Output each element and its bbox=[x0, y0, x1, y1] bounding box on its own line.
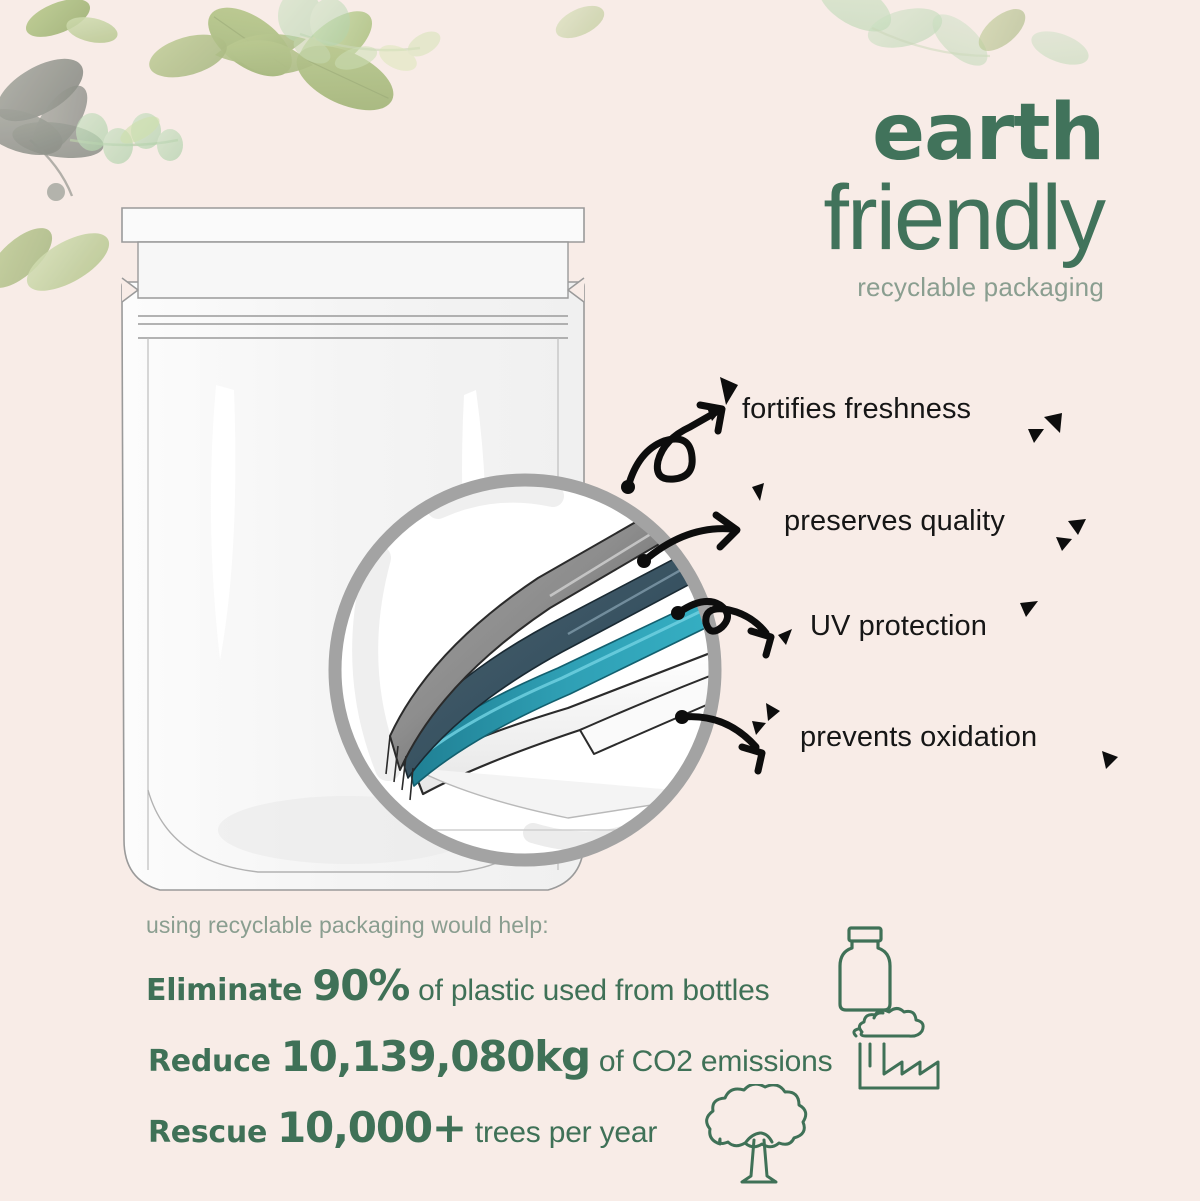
page-title: earth friendly recyclable packaging bbox=[584, 96, 1104, 303]
title-line-earth: earth bbox=[584, 96, 1104, 170]
stat-row-reduce: Reduce 10,139,080kg of CO2 emissions bbox=[148, 1032, 1146, 1081]
feature-item-preserves-quality: preserves quality bbox=[784, 505, 1005, 538]
arrow-anchor-dots bbox=[621, 480, 689, 724]
stat-tail: trees per year bbox=[475, 1116, 657, 1150]
small-loop-arrow-icon bbox=[678, 601, 771, 655]
stat-verb: Rescue bbox=[148, 1115, 267, 1150]
feature-item-uv-protection: UV protection bbox=[810, 610, 987, 643]
curly-loop-arrow-icon bbox=[628, 405, 722, 487]
stat-row-eliminate: Eliminate 90% of plastic used from bottl… bbox=[146, 961, 1146, 1010]
stat-value: 10,000+ bbox=[277, 1103, 466, 1152]
stat-verb: Reduce bbox=[148, 1044, 271, 1079]
title-line-friendly: friendly bbox=[584, 174, 1104, 262]
stat-tail: of plastic used from bottles bbox=[418, 974, 769, 1008]
stat-row-rescue: Rescue 10,000+ trees per year bbox=[148, 1103, 1146, 1152]
feature-item-fortifies-freshness: fortifies freshness bbox=[742, 393, 971, 426]
stat-value: 90% bbox=[312, 961, 409, 1010]
stats-intro: using recyclable packaging would help: bbox=[146, 912, 1146, 939]
feature-label: preserves quality bbox=[784, 505, 1005, 538]
curved-arrow-icon bbox=[682, 717, 762, 771]
infographic-canvas: earth friendly recyclable packaging bbox=[0, 0, 1200, 1201]
stat-value: 10,139,080kg bbox=[281, 1032, 590, 1081]
feature-label: prevents oxidation bbox=[800, 721, 1037, 754]
feature-list: fortifies freshness preserves quality UV… bbox=[620, 365, 1180, 785]
title-subtitle: recyclable packaging bbox=[584, 272, 1104, 303]
impact-stats: using recyclable packaging would help: E… bbox=[146, 912, 1146, 1170]
stat-verb: Eliminate bbox=[146, 973, 302, 1008]
feature-label: UV protection bbox=[810, 610, 987, 643]
curved-arrow-icon bbox=[644, 515, 737, 561]
feature-label: fortifies freshness bbox=[742, 393, 971, 426]
stat-tail: of CO2 emissions bbox=[599, 1045, 833, 1079]
feature-item-prevents-oxidation: prevents oxidation bbox=[800, 721, 1037, 754]
